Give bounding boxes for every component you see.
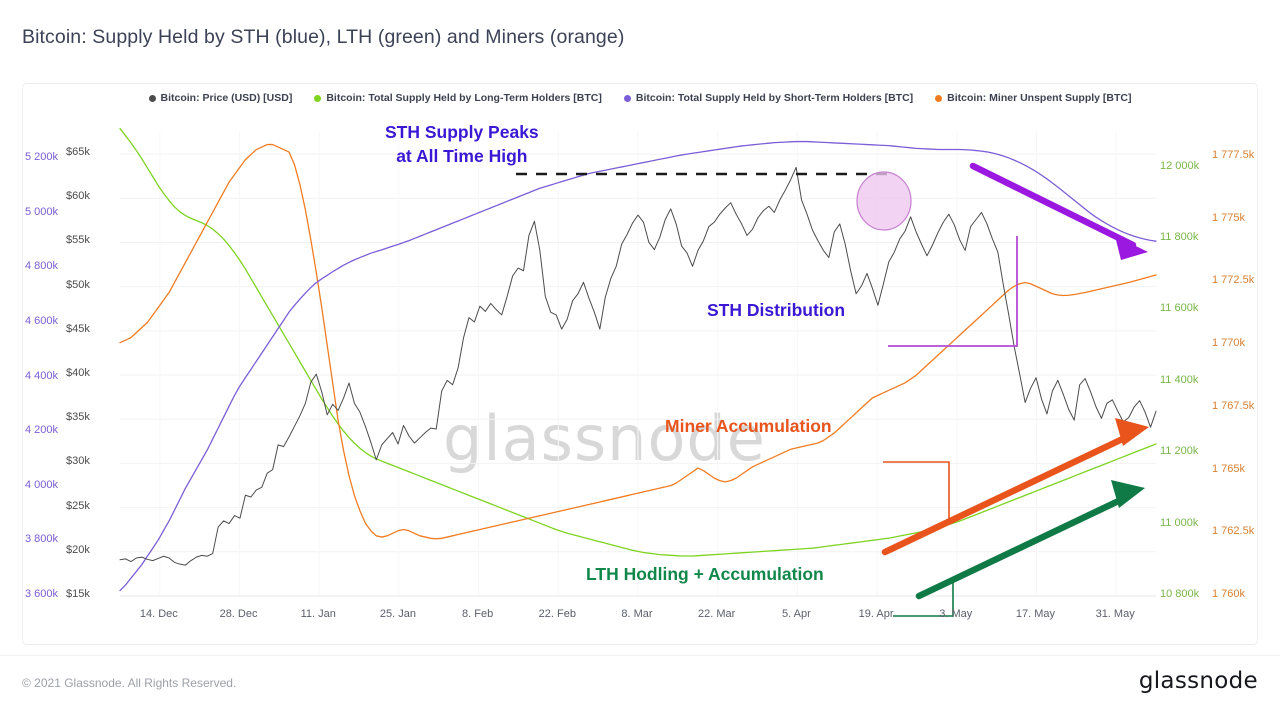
y-axis-price-tick-4: $45k: [66, 323, 90, 335]
x-axis-tick-0: 14. Dec: [140, 608, 178, 620]
x-axis-tick-3: 25. Jan: [380, 608, 416, 620]
sth-decline-arrow-shaft: [973, 166, 1133, 245]
y-axis-price-tick-2: $55k: [66, 234, 90, 246]
x-axis-tick-1: 28. Dec: [220, 608, 258, 620]
y-axis-miner-tick-4: 1 767.5k: [1212, 400, 1254, 412]
y-axis-lth-tick-6: 10 800k: [1160, 588, 1199, 600]
y-axis-price-tick-8: $25k: [66, 500, 90, 512]
y-axis-sth-tick-0: 5 200k: [25, 151, 58, 163]
y-axis-price-tick-0: $65k: [66, 146, 90, 158]
y-axis-sth-tick-6: 4 000k: [25, 479, 58, 491]
annotation-sth-supply-peaks: STH Supply Peaksat All Time High: [385, 121, 539, 168]
x-axis-tick-6: 8. Mar: [621, 608, 652, 620]
y-axis-lth-tick-1: 11 800k: [1160, 231, 1198, 243]
y-axis-sth-tick-4: 4 400k: [25, 370, 58, 382]
y-axis-lth-tick-3: 11 400k: [1160, 374, 1198, 386]
x-axis-tick-8: 5. Apr: [782, 608, 811, 620]
x-axis-tick-4: 8. Feb: [462, 608, 493, 620]
x-axis-tick-10: 3. May: [939, 608, 972, 620]
y-axis-miner-tick-3: 1 770k: [1212, 337, 1245, 349]
x-axis-tick-2: 11. Jan: [301, 608, 336, 620]
x-axis-tick-11: 17. May: [1016, 608, 1055, 620]
y-axis-lth-tick-5: 11 000k: [1160, 517, 1198, 529]
y-axis-miner-tick-6: 1 762.5k: [1212, 525, 1254, 537]
annotation-graphics: [516, 166, 1149, 616]
y-axis-price-tick-9: $20k: [66, 544, 90, 556]
x-axis-tick-7: 22. Mar: [698, 608, 735, 620]
lth-accumulation-arrow-shaft: [919, 496, 1129, 596]
y-axis-miner-tick-5: 1 765k: [1212, 463, 1245, 475]
annotation-sth-peak-line2: at All Time High: [385, 145, 539, 169]
y-axis-lth-tick-4: 11 200k: [1160, 445, 1198, 457]
y-axis-price-tick-10: $15k: [66, 588, 90, 600]
y-axis-miner-tick-2: 1 772.5k: [1212, 274, 1254, 286]
chart-plot-area: [23, 84, 1259, 646]
x-axis-tick-5: 22. Feb: [539, 608, 576, 620]
annotation-miner-accumulation: Miner Accumulation: [665, 416, 832, 437]
x-axis-tick-12: 31. May: [1096, 608, 1135, 620]
y-axis-price-tick-6: $35k: [66, 411, 90, 423]
price-peak-highlight: [857, 172, 911, 230]
y-axis-miner-tick-1: 1 775k: [1212, 212, 1245, 224]
y-axis-lth-tick-0: 12 000k: [1160, 160, 1199, 172]
y-axis-sth-tick-7: 3 800k: [25, 533, 58, 545]
y-axis-sth-tick-3: 4 600k: [25, 315, 58, 327]
y-axis-lth-tick-2: 11 600k: [1160, 302, 1198, 314]
chart-card: Bitcoin: Price (USD) [USD]Bitcoin: Total…: [22, 83, 1258, 645]
y-axis-sth-tick-8: 3 600k: [25, 588, 58, 600]
sth-decline-arrow-head: [1115, 236, 1148, 260]
miner-accumulation-leader: [883, 462, 949, 521]
y-axis-sth-tick-5: 4 200k: [25, 424, 58, 436]
annotation-sth-peak-line1: STH Supply Peaks: [385, 121, 539, 145]
miner-accumulation-arrow-shaft: [885, 434, 1133, 552]
footer-divider: [0, 655, 1280, 656]
y-axis-sth-tick-2: 4 800k: [25, 260, 58, 272]
y-axis-miner-tick-7: 1 760k: [1212, 588, 1245, 600]
glassnode-logo: glassnode: [1139, 668, 1258, 694]
y-axis-miner-tick-0: 1 777.5k: [1212, 149, 1254, 161]
page-title: Bitcoin: Supply Held by STH (blue), LTH …: [22, 26, 624, 49]
annotation-lth-hodling: LTH Hodling + Accumulation: [586, 564, 824, 585]
y-axis-price-tick-3: $50k: [66, 279, 90, 291]
footer-copyright: © 2021 Glassnode. All Rights Reserved.: [22, 676, 236, 690]
y-axis-price-tick-1: $60k: [66, 190, 90, 202]
y-axis-price-tick-5: $40k: [66, 367, 90, 379]
x-axis-tick-9: 19. Apr: [859, 608, 894, 620]
y-axis-price-tick-7: $30k: [66, 455, 90, 467]
annotation-sth-distribution: STH Distribution: [707, 300, 845, 321]
y-axis-sth-tick-1: 5 000k: [25, 206, 58, 218]
